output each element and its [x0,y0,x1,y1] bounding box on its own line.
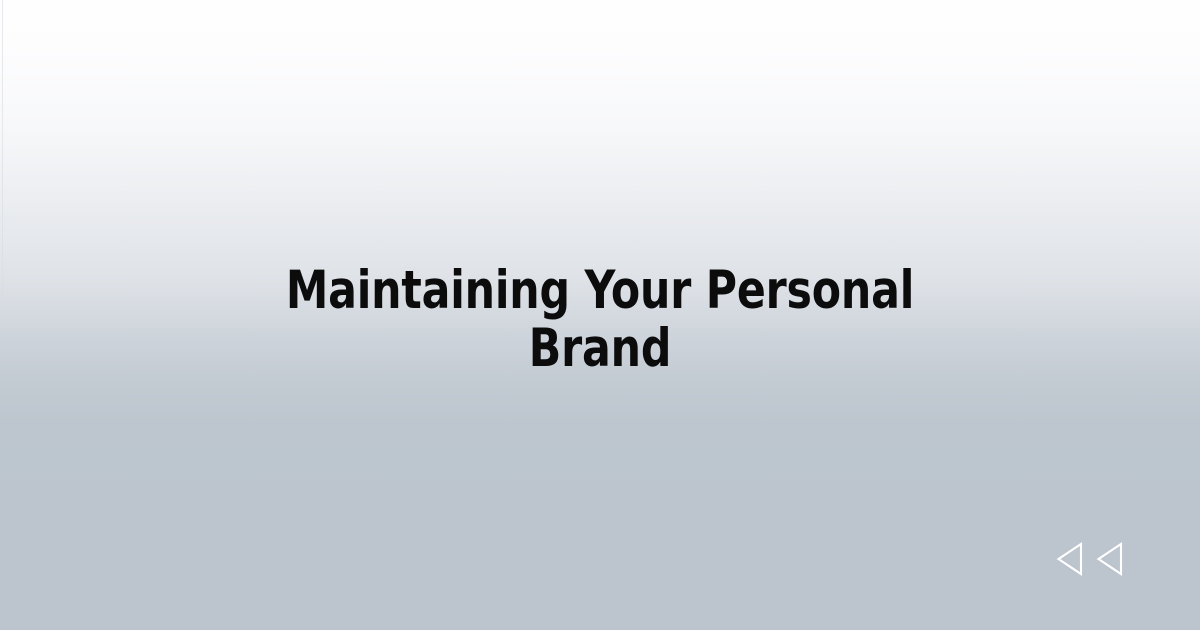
navigation-arrows [1056,541,1124,577]
page-title: Maintaining Your Personal Brand [170,262,1029,378]
previous-arrow-second-button[interactable] [1096,541,1124,577]
triangle-left-outline-icon [1056,541,1084,577]
title-block: Maintaining Your Personal Brand [0,262,1200,378]
slide-canvas: Maintaining Your Personal Brand [0,0,1200,630]
triangle-left-outline-icon [1096,541,1124,577]
previous-arrow-first-button[interactable] [1056,541,1084,577]
